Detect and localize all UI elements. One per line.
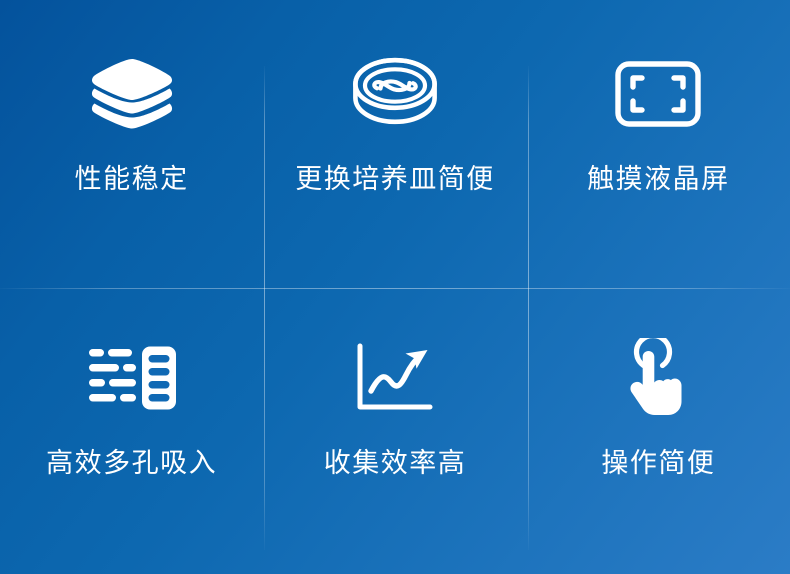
tap-hand-icon [622, 335, 694, 421]
feature-item-easy-operation[interactable]: 操作简便 [527, 287, 790, 574]
fullscreen-frame-icon [615, 51, 701, 137]
feature-label: 触摸液晶屏 [587, 163, 730, 195]
perforated-plate-icon [87, 335, 177, 421]
feature-grid: 性能稳定 更换培养皿简便 [0, 0, 790, 574]
feature-label: 性能稳定 [75, 163, 189, 195]
feature-item-touch-lcd[interactable]: 触摸液晶屏 [527, 0, 790, 287]
feature-item-stable-performance[interactable]: 性能稳定 [0, 0, 263, 287]
rising-line-chart-icon [356, 335, 434, 421]
feature-label: 更换培养皿简便 [295, 163, 495, 195]
feature-item-easy-dish-change[interactable]: 更换培养皿简便 [263, 0, 526, 287]
layers-stack-icon [90, 51, 174, 137]
feature-label: 操作简便 [601, 447, 715, 479]
feature-label: 收集效率高 [324, 447, 467, 479]
feature-item-multi-hole-suction[interactable]: 高效多孔吸入 [0, 287, 263, 574]
feature-highlights-panel: 性能稳定 更换培养皿简便 [0, 0, 790, 574]
petri-dish-icon [352, 51, 438, 137]
feature-label: 高效多孔吸入 [46, 447, 217, 479]
feature-item-high-collection-efficiency[interactable]: 收集效率高 [263, 287, 526, 574]
